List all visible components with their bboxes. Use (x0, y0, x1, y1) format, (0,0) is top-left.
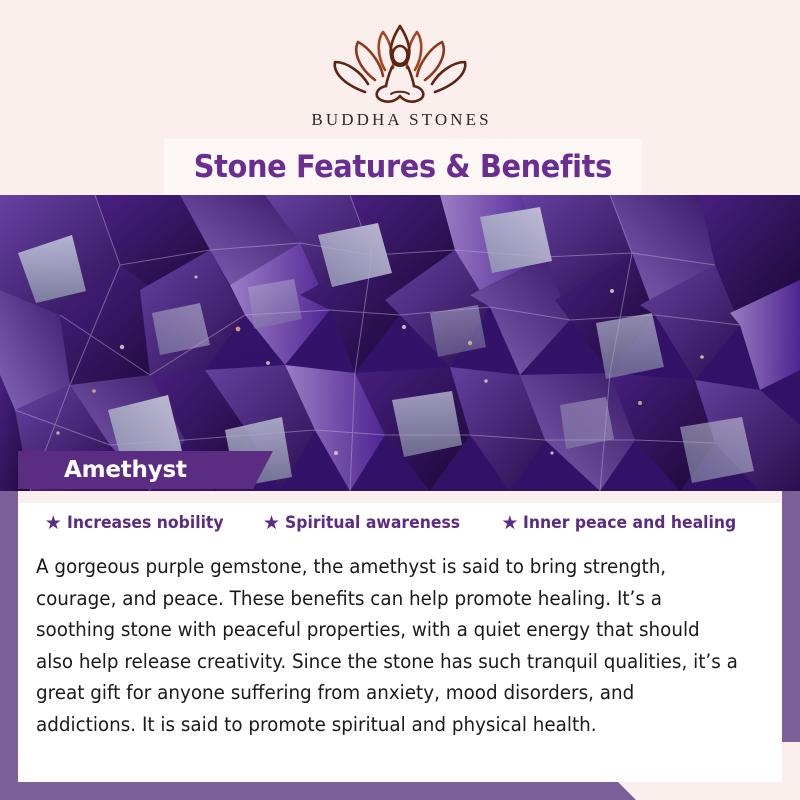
benefit-item: ★ Increases nobility (45, 513, 237, 533)
benefits-list: ★ Increases nobility ★ Spiritual awarene… (18, 513, 782, 533)
stone-name-label: Amethyst (64, 457, 187, 483)
benefit-item: ★ Spiritual awareness (263, 513, 475, 533)
stone-info-poster: BUDDHA STONES Stone Features & Benefits (0, 0, 800, 800)
stone-name-banner: Amethyst (18, 451, 273, 489)
frame-border-bottom (0, 782, 800, 800)
star-icon: ★ (263, 514, 280, 533)
amethyst-crystal-photo (0, 195, 800, 491)
benefit-label: Increases nobility (67, 513, 224, 533)
benefit-item: ★ Inner peace and healing (501, 513, 755, 533)
brand-name: BUDDHA STONES (308, 110, 491, 130)
stone-description: A gorgeous purple gemstone, the amethyst… (36, 551, 739, 740)
page-title: Stone Features & Benefits (194, 149, 612, 185)
frame-corner-cut-bottom-right (782, 742, 800, 800)
title-plate: Stone Features & Benefits (164, 139, 642, 195)
benefit-label: Inner peace and healing (523, 513, 736, 533)
panel-top-strip (18, 491, 782, 503)
content-panel: ★ Increases nobility ★ Spiritual awarene… (18, 491, 782, 782)
lotus-meditation-figure-icon (325, 22, 475, 106)
star-icon: ★ (45, 514, 62, 533)
benefit-label: Spiritual awareness (285, 513, 460, 533)
star-icon: ★ (501, 514, 518, 533)
